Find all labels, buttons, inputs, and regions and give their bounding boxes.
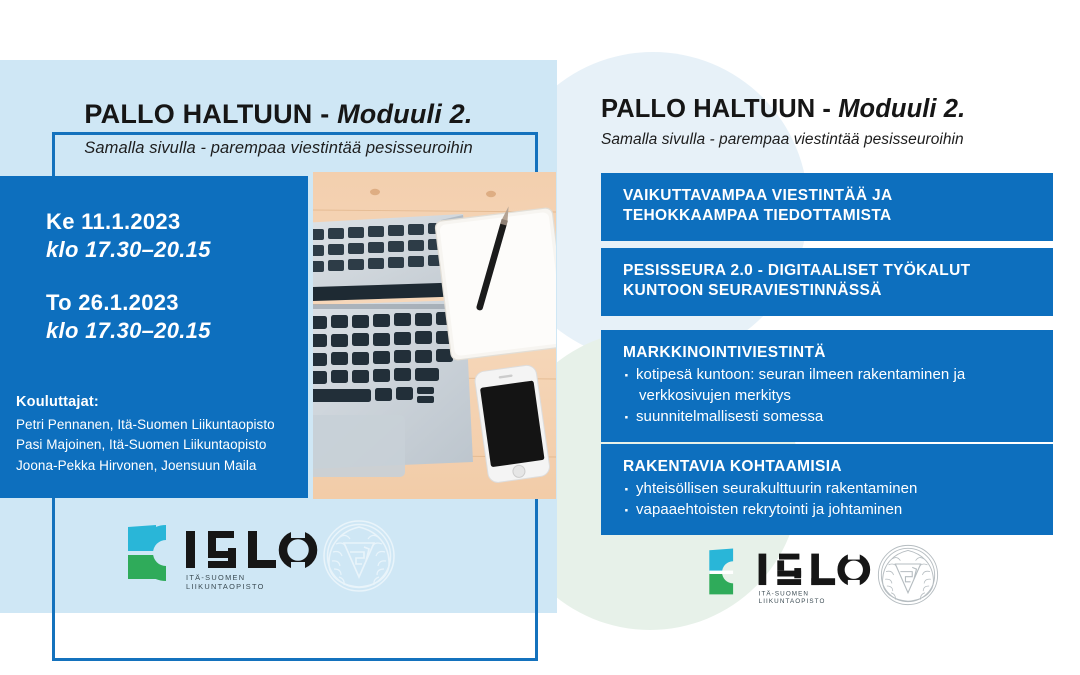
topic-heading: PESISSEURA 2.0 - DIGITAALISET TYÖKALUT K… <box>623 261 1031 302</box>
topic-heading: MARKKINOINTIVIESTINTÄ <box>623 343 1031 363</box>
pesapalloliitto-wreath-emblem <box>320 517 398 595</box>
right-title-main: PALLO HALTUUN - <box>601 95 838 123</box>
topic-card: MARKKINOINTIVIESTINTÄ kotipesä kuntoon: … <box>601 330 1053 442</box>
date-entry: Ke 11.1.2023 klo 17.30–20.15 <box>46 208 211 263</box>
islo-tagline-line1: ITÄ-SUOMEN <box>186 573 245 582</box>
topic-heading: RAKENTAVIA KOHTAAMISIA <box>623 457 1031 477</box>
date-entry: To 26.1.2023 klo 17.30–20.15 <box>46 289 211 344</box>
date-day: Ke 11.1.2023 <box>46 208 211 236</box>
topic-heading: VAIKUTTAVAMPAA VIESTINTÄÄ JA TEHOKKAAMPA… <box>623 186 1031 227</box>
topic-bullet-text: vapaaehtoisten rekrytointi ja johtaminen <box>636 501 902 518</box>
topic-bullet: vapaaehtoisten rekrytointi ja johtaminen <box>623 500 1031 521</box>
topic-card: VAIKUTTAVAMPAA VIESTINTÄÄ JA TEHOKKAAMPA… <box>601 173 1053 241</box>
topic-bullet-continuation: verkkosivujen merkitys <box>636 386 1031 407</box>
date-time: klo 17.30–20.15 <box>46 236 211 264</box>
islo-tagline-line2: LIIKUNTAOPISTO <box>759 598 826 605</box>
left-logo-row: ITÄ-SUOMEN LIIKUNTAOPISTO <box>120 515 420 595</box>
topic-bullet-text: suunnitelmallisesti somessa <box>636 408 823 425</box>
trainer-name: Joona-Pekka Hirvonen, Joensuun Maila <box>16 456 306 476</box>
trainer-name: Pasi Majoinen, Itä-Suomen Liikuntaopisto <box>16 435 306 455</box>
islo-tagline-line1: ITÄ-SUOMEN <box>759 589 809 597</box>
left-title-italic: Moduuli 2. <box>337 99 472 129</box>
topic-card: PESISSEURA 2.0 - DIGITAALISET TYÖKALUT K… <box>601 248 1053 316</box>
topic-heading-line: TEHOKKAAMPAA TIEDOTTAMISTA <box>623 206 1031 226</box>
topic-heading-line: PESISSEURA 2.0 - DIGITAALISET TYÖKALUT <box>623 261 1031 281</box>
left-info-box: Ke 11.1.2023 klo 17.30–20.15 To 26.1.202… <box>0 176 308 498</box>
right-page-title: PALLO HALTUUN - Moduuli 2. <box>601 95 1053 123</box>
left-title-main: PALLO HALTUUN - <box>84 99 337 129</box>
pesapalloliitto-wreath-emblem <box>875 542 941 608</box>
left-subtitle: Samalla sivulla - parempaa viestintää pe… <box>0 139 557 158</box>
left-page-title: PALLO HALTUUN - Moduuli 2. <box>0 100 557 130</box>
topic-card: RAKENTAVIA KOHTAAMISIA yhteisöllisen seu… <box>601 444 1053 535</box>
poster-canvas: PALLO HALTUUN - Moduuli 2. Samalla sivul… <box>0 0 1080 675</box>
trainers-block: Kouluttajat: Petri Pennanen, Itä-Suomen … <box>16 394 306 476</box>
left-title-block: PALLO HALTUUN - Moduuli 2. Samalla sivul… <box>0 100 557 158</box>
topic-bullet-list: yhteisöllisen seurakulttuurin rakentamin… <box>623 479 1031 520</box>
topic-heading-line: MARKKINOINTIVIESTINTÄ <box>623 343 1031 363</box>
topic-heading-line: RAKENTAVIA KOHTAAMISIA <box>623 457 1031 477</box>
topic-bullet-text: kotipesä kuntoon: seuran ilmeen rakentam… <box>636 366 965 383</box>
right-title-italic: Moduuli 2. <box>838 95 965 123</box>
topic-bullet: yhteisöllisen seurakulttuurin rakentamin… <box>623 479 1031 500</box>
right-logo-row: ITÄ-SUOMEN LIIKUNTAOPISTO <box>700 540 1000 610</box>
islo-tagline-line2: LIIKUNTAOPISTO <box>186 582 265 591</box>
right-subtitle: Samalla sivulla - parempaa viestintää pe… <box>601 131 1053 149</box>
trainers-heading: Kouluttajat: <box>16 394 306 410</box>
topic-bullet: suunnitelmallisesti somessa <box>623 407 1031 428</box>
date-time: klo 17.30–20.15 <box>46 317 211 345</box>
trainer-name: Petri Pennanen, Itä-Suomen Liikuntaopist… <box>16 415 306 435</box>
dates-list: Ke 11.1.2023 klo 17.30–20.15 To 26.1.202… <box>46 208 211 344</box>
topic-bullet-text: yhteisöllisen seurakulttuurin rakentamin… <box>636 480 917 497</box>
topic-heading-line: KUNTOON SEURAVIESTINNÄSSÄ <box>623 281 1031 301</box>
date-day: To 26.1.2023 <box>46 289 211 317</box>
desk-photo <box>313 172 556 499</box>
topic-bullet-list: kotipesä kuntoon: seuran ilmeen rakentam… <box>623 365 1031 427</box>
topic-bullet: kotipesä kuntoon: seuran ilmeen rakentam… <box>623 365 1031 406</box>
right-title-block: PALLO HALTUUN - Moduuli 2. Samalla sivul… <box>601 95 1053 149</box>
topic-heading-line: VAIKUTTAVAMPAA VIESTINTÄÄ JA <box>623 186 1031 206</box>
